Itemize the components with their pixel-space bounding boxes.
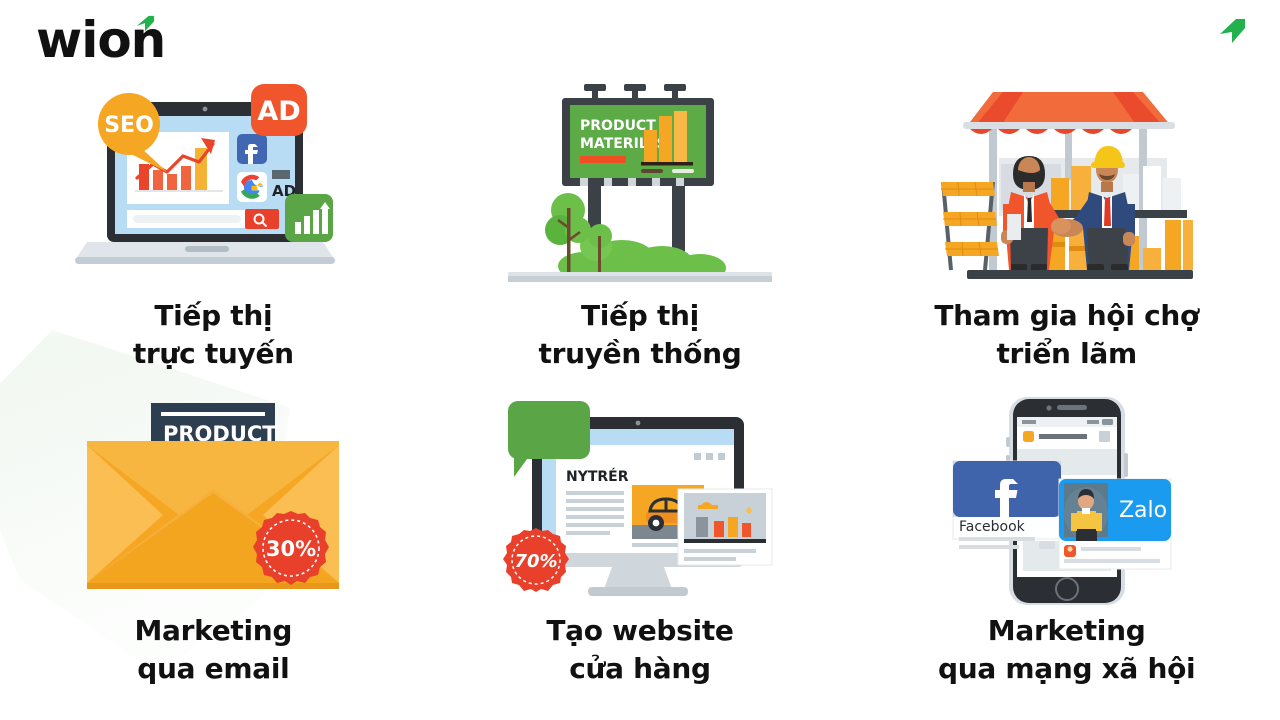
zalo-card: Zalo bbox=[1059, 479, 1171, 569]
trade-fair-illustration bbox=[927, 78, 1207, 293]
channel-card-trade-fair[interactable]: Tham gia hội chợ triển lãm bbox=[853, 78, 1280, 393]
monitor-website-illustration: NYTRÉR bbox=[500, 393, 780, 608]
discount-badge-30: 30% bbox=[253, 511, 329, 585]
laptop-seo-ads-illustration: AD SEO AD bbox=[73, 78, 353, 293]
search-button-graphic bbox=[245, 209, 279, 229]
channel-card-email-marketing[interactable]: PRODUCT bbox=[0, 393, 427, 708]
brand-logo: wion bbox=[36, 12, 236, 68]
website-heading: NYTRÉR bbox=[566, 468, 629, 485]
zalo-label: Zalo bbox=[1119, 498, 1167, 523]
logo-arrow-icon bbox=[134, 14, 156, 34]
discount-badge-label: 30% bbox=[266, 537, 316, 561]
channel-card-online-marketing[interactable]: AD SEO AD bbox=[0, 78, 427, 393]
channel-caption: Marketing qua email bbox=[134, 612, 292, 688]
channel-card-store-website[interactable]: NYTRÉR bbox=[427, 393, 854, 708]
billboard-illustration: PRODUCT MATERILLS bbox=[500, 78, 780, 293]
channel-caption: Tiếp thị truyền thống bbox=[539, 297, 742, 373]
envelope-illustration: PRODUCT bbox=[73, 393, 353, 608]
green-chart-badge bbox=[285, 194, 333, 242]
channel-caption: Tham gia hội chợ triển lãm bbox=[934, 297, 1199, 373]
ad-badge: AD bbox=[251, 84, 307, 136]
smartphone-social-illustration: Facebook bbox=[927, 393, 1207, 608]
facebook-card: Facebook bbox=[953, 461, 1061, 549]
corner-arrow-icon bbox=[1216, 16, 1248, 48]
seo-bubble-label: SEO bbox=[105, 113, 155, 138]
channel-caption: Tạo website cửa hàng bbox=[546, 612, 733, 688]
slide-canvas: wion bbox=[0, 0, 1280, 720]
channels-grid: AD SEO AD bbox=[0, 78, 1280, 708]
discount-badge-label: 70% bbox=[514, 551, 557, 572]
channel-caption: Marketing qua mạng xã hội bbox=[938, 612, 1195, 688]
discount-badge-70: 70% bbox=[503, 528, 569, 592]
facebook-label: Facebook bbox=[959, 519, 1026, 535]
floating-product-card bbox=[678, 489, 772, 565]
ad-badge-label: AD bbox=[258, 96, 301, 127]
channel-card-social-marketing[interactable]: Facebook bbox=[853, 393, 1280, 708]
channel-caption: Tiếp thị trực tuyến bbox=[133, 297, 294, 373]
channel-card-traditional-marketing[interactable]: PRODUCT MATERILLS bbox=[427, 78, 854, 393]
